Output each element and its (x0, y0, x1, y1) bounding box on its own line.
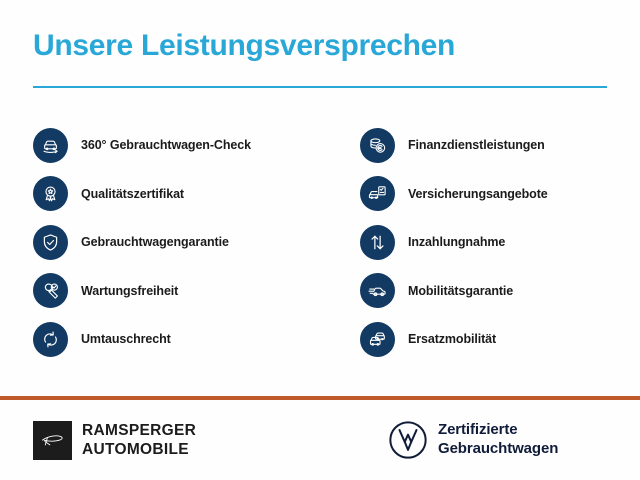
feature-column-left: 360° Gebrauchtwagen-Check Qualitätszerti… (33, 121, 333, 364)
footer: RAMSPERGER AUTOMOBILE Zertifizierte Gebr… (0, 400, 640, 480)
up-down-arrows-icon (360, 225, 395, 260)
ramsperger-line2: AUTOMOBILE (82, 441, 196, 460)
ramsperger-swoosh-icon (33, 421, 72, 460)
feature-item-qualitaetszertifikat[interactable]: Qualitätszertifikat (33, 170, 333, 219)
ramsperger-logo[interactable]: RAMSPERGER AUTOMOBILE (33, 421, 196, 460)
ramsperger-wordmark: RAMSPERGER AUTOMOBILE (82, 422, 196, 460)
feature-item-finanzdienstleistungen[interactable]: Finanzdienstleistungen (360, 121, 630, 170)
feature-item-wartungsfreiheit[interactable]: Wartungsfreiheit (33, 267, 333, 316)
exchange-arrows-icon (33, 322, 68, 357)
feature-item-mobilitaetsgarantie[interactable]: Mobilitätsgarantie (360, 267, 630, 316)
vw-line1: Zertifizierte (438, 421, 558, 440)
shield-check-icon (33, 225, 68, 260)
car-insurance-checklist-icon (360, 176, 395, 211)
coins-euro-icon (360, 128, 395, 163)
feature-label: Finanzdienstleistungen (408, 138, 545, 152)
ramsperger-line1: RAMSPERGER (82, 422, 196, 441)
promo-panel: Unsere Leistungsversprechen 360° Gebrauc… (0, 0, 640, 480)
quality-seal-icon (33, 176, 68, 211)
feature-label: 360° Gebrauchtwagen-Check (81, 138, 251, 152)
feature-label: Gebrauchtwagengarantie (81, 235, 229, 249)
car-360-check-icon (33, 128, 68, 163)
feature-item-versicherungsangebote[interactable]: Versicherungsangebote (360, 170, 630, 219)
feature-label: Versicherungsangebote (408, 187, 548, 201)
volkswagen-logo[interactable]: Zertifizierte Gebrauchtwagen (387, 419, 558, 461)
title-divider (33, 86, 607, 88)
car-motion-icon (360, 273, 395, 308)
vw-line2: Gebrauchtwagen (438, 440, 558, 459)
feature-item-gebrauchtwagengarantie[interactable]: Gebrauchtwagengarantie (33, 218, 333, 267)
volkswagen-wordmark: Zertifizierte Gebrauchtwagen (438, 421, 558, 459)
page-title: Unsere Leistungsversprechen (33, 31, 455, 61)
two-cars-icon (360, 322, 395, 357)
feature-label: Ersatzmobilität (408, 332, 496, 346)
feature-column-right: Finanzdienstleistungen Versicherungsange… (360, 121, 630, 364)
feature-label: Inzahlungnahme (408, 235, 505, 249)
feature-label: Wartungsfreiheit (81, 284, 178, 298)
feature-label: Qualitätszertifikat (81, 187, 184, 201)
feature-item-umtauschrecht[interactable]: Umtauschrecht (33, 315, 333, 364)
feature-label: Umtauschrecht (81, 332, 171, 346)
vw-roundel-icon (387, 419, 429, 461)
feature-item-ersatzmobilitaet[interactable]: Ersatzmobilität (360, 315, 630, 364)
feature-item-inzahlungnahme[interactable]: Inzahlungnahme (360, 218, 630, 267)
wrench-check-icon (33, 273, 68, 308)
feature-label: Mobilitätsgarantie (408, 284, 513, 298)
feature-item-gebrauchtwagen-check[interactable]: 360° Gebrauchtwagen-Check (33, 121, 333, 170)
